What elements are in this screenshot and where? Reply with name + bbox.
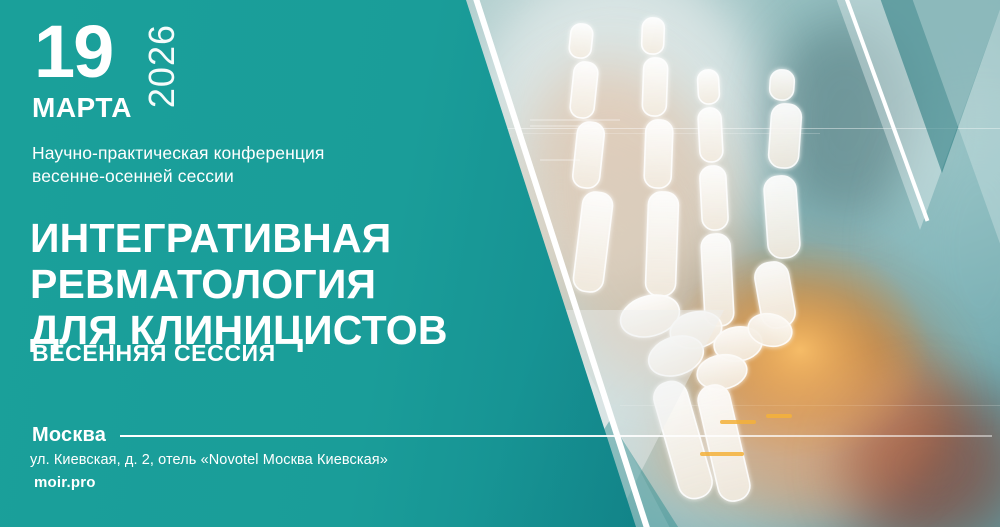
subtitle-line-1: Научно-практическая конференция — [32, 143, 324, 163]
title-line-1: ИНТЕГРАТИВНАЯ — [30, 216, 530, 262]
date-month: МАРТА — [32, 92, 132, 124]
venue-city-row: Москва — [32, 424, 992, 447]
subtitle-line-2: весенне-осенней сессии — [32, 166, 234, 186]
venue-address: ул. Киевская, д. 2, отель «Novotel Москв… — [30, 452, 388, 468]
conference-banner: 19 МАРТА 2026 Научно-практическая конфер… — [0, 0, 1000, 527]
date-day: 19 — [34, 22, 112, 83]
session-label: ВЕСЕННЯЯ СЕССИЯ — [32, 340, 276, 367]
title-line-2: РЕВМАТОЛОГИЯ — [30, 262, 530, 308]
venue-city: Москва — [32, 424, 106, 447]
date-year: 2026 — [144, 24, 180, 108]
event-date: 19 МАРТА 2026 — [32, 22, 180, 124]
event-subtitle: Научно-практическая конференция весенне-… — [32, 142, 324, 188]
date-day-month: 19 МАРТА — [32, 22, 132, 124]
event-title: ИНТЕГРАТИВНАЯ РЕВМАТОЛОГИЯ ДЛЯ КЛИНИЦИСТ… — [30, 216, 530, 354]
horizontal-rule — [120, 435, 992, 437]
website-link[interactable]: moir.pro — [34, 474, 96, 491]
banner-content: 19 МАРТА 2026 Научно-практическая конфер… — [0, 0, 470, 527]
